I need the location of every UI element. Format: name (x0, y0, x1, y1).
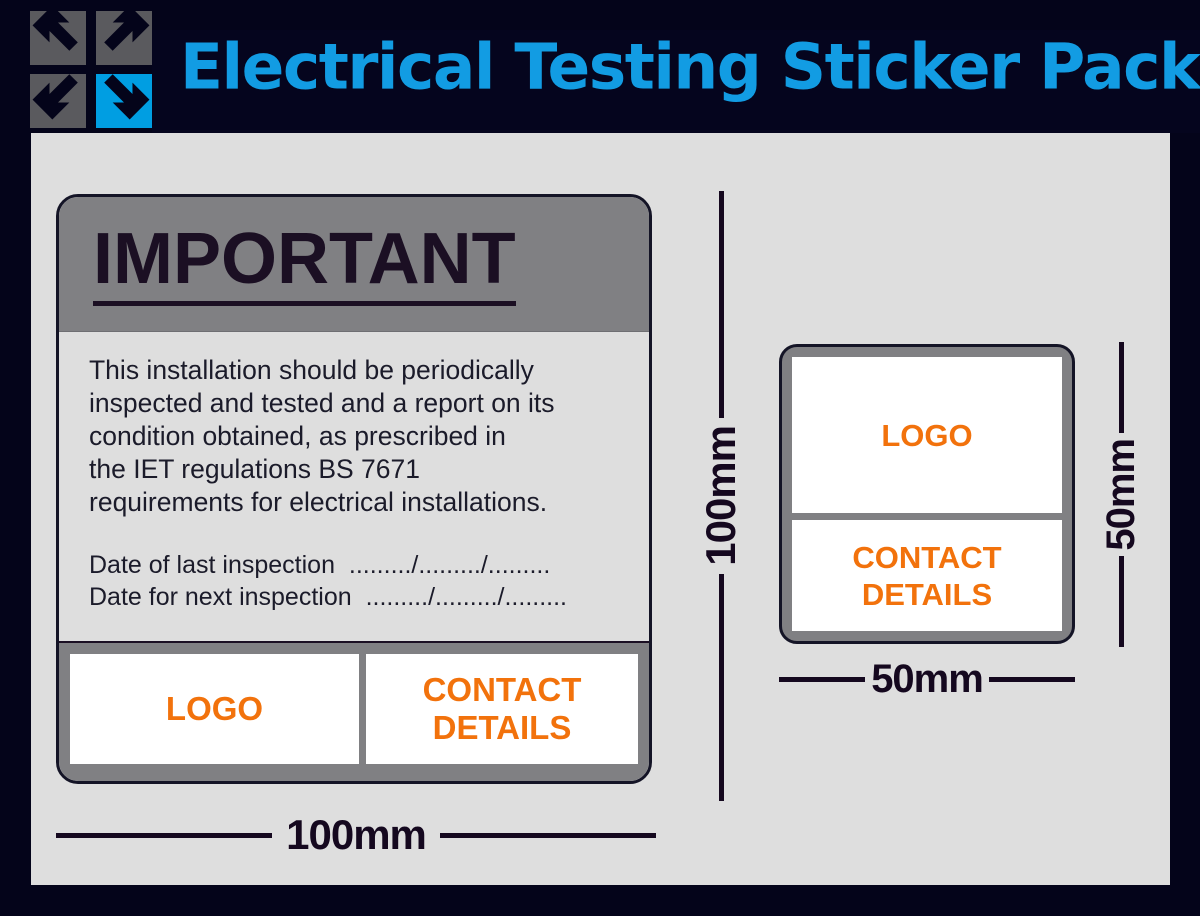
small-logo-placeholder-label: LOGO (881, 417, 972, 454)
dimension-small-width-label: 50mm (865, 659, 989, 699)
dimension-large-width-label: 100mm (272, 814, 440, 856)
date-next-label: Date for next inspection (89, 583, 352, 611)
contact-details-placeholder-box[interactable]: CONTACT DETAILS (366, 654, 638, 764)
dimension-rule (440, 833, 656, 838)
four-quadrant-arrows-logo-icon (30, 11, 152, 128)
date-last-input[interactable]: ........./........./......... (349, 551, 550, 579)
sticker-large-body: This installation should be periodically… (59, 332, 649, 641)
installation-notice-text: This installation should be periodically… (89, 354, 619, 519)
dimension-large-width: 100mm (56, 805, 656, 865)
dimension-rule (1119, 342, 1124, 433)
page-header: Electrical Testing Sticker Pack (0, 0, 1200, 133)
dimension-small-height-label: 50mm (1101, 433, 1141, 557)
date-row: Date of last inspection ........./......… (89, 549, 619, 581)
sticker-small-50mm[interactable]: LOGO CONTACT DETAILS (779, 344, 1075, 644)
dimension-rule (719, 191, 724, 418)
date-row: Date for next inspection ........./.....… (89, 581, 619, 613)
logo-placeholder-label: LOGO (166, 690, 263, 728)
main-canvas: IMPORTANT This installation should be pe… (31, 133, 1170, 885)
dimension-rule (1119, 556, 1124, 647)
dimension-rule (779, 677, 865, 682)
date-last-label: Date of last inspection (89, 551, 335, 579)
sticker-pack-page: Electrical Testing Sticker Pack IMPORTAN… (0, 0, 1200, 916)
inspection-date-block: Date of last inspection ........./......… (89, 549, 619, 613)
small-logo-placeholder-box[interactable]: LOGO (792, 357, 1062, 513)
dimension-small-height: 50mm (1091, 342, 1151, 647)
sticker-large-footer: LOGO CONTACT DETAILS (59, 641, 649, 781)
contact-details-placeholder-label: CONTACT DETAILS (423, 671, 582, 747)
dimension-rule (989, 677, 1075, 682)
important-heading: IMPORTANT (93, 223, 516, 306)
sticker-large-header: IMPORTANT (59, 197, 649, 332)
dimension-rule (719, 574, 724, 801)
small-contact-details-placeholder-box[interactable]: CONTACT DETAILS (792, 520, 1062, 631)
dimension-large-height: 100mm (686, 191, 756, 801)
date-next-input[interactable]: ........./........./......... (366, 583, 567, 611)
small-contact-details-placeholder-label: CONTACT DETAILS (852, 539, 1001, 613)
dimension-small-width: 50mm (779, 654, 1075, 704)
sticker-large-100mm[interactable]: IMPORTANT This installation should be pe… (56, 194, 652, 784)
page-title: Electrical Testing Sticker Pack (180, 30, 1199, 103)
dimension-rule (56, 833, 272, 838)
logo-placeholder-box[interactable]: LOGO (70, 654, 359, 764)
dimension-large-height-label: 100mm (700, 418, 742, 574)
